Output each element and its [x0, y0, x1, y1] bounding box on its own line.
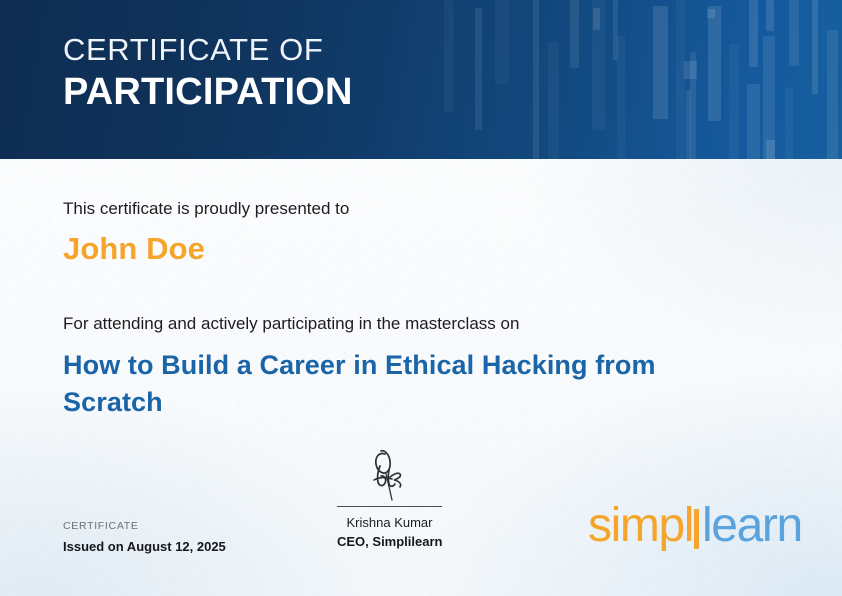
logo-i-stem-icon	[694, 509, 699, 549]
certificate-header-banner: CERTIFICATE OF PARTICIPATION	[0, 0, 842, 159]
certificate-label: CERTIFICATE	[63, 519, 226, 535]
signer-name: Krishna Kumar	[337, 514, 442, 533]
simplilearn-logo: simpllearn	[588, 499, 788, 553]
certificate-document: CERTIFICATE OF PARTICIPATION This certif…	[0, 0, 842, 596]
logo-text-blue: learn	[702, 499, 802, 552]
certificate-issued-date: Issued on August 12, 2025	[63, 537, 226, 557]
presented-to-label: This certificate is proudly presented to	[63, 199, 349, 219]
course-title: How to Build a Career in Ethical Hacking…	[63, 347, 663, 420]
handwritten-signature-icon	[337, 444, 442, 506]
signature-rule	[337, 506, 442, 507]
certificate-title-line-1: CERTIFICATE OF	[63, 32, 353, 68]
attending-description: For attending and actively participating…	[63, 314, 519, 334]
signer-title: CEO, Simplilearn	[337, 533, 442, 552]
certificate-body: This certificate is proudly presented to…	[0, 159, 842, 596]
logo-text-orange: simpl	[588, 499, 693, 552]
certificate-issue-meta: CERTIFICATE Issued on August 12, 2025	[63, 519, 226, 556]
signature-block: Krishna Kumar CEO, Simplilearn	[337, 444, 442, 552]
certificate-title-line-2: PARTICIPATION	[63, 70, 353, 115]
certificate-title-group: CERTIFICATE OF PARTICIPATION	[63, 32, 353, 114]
recipient-name: John Doe	[63, 231, 205, 267]
